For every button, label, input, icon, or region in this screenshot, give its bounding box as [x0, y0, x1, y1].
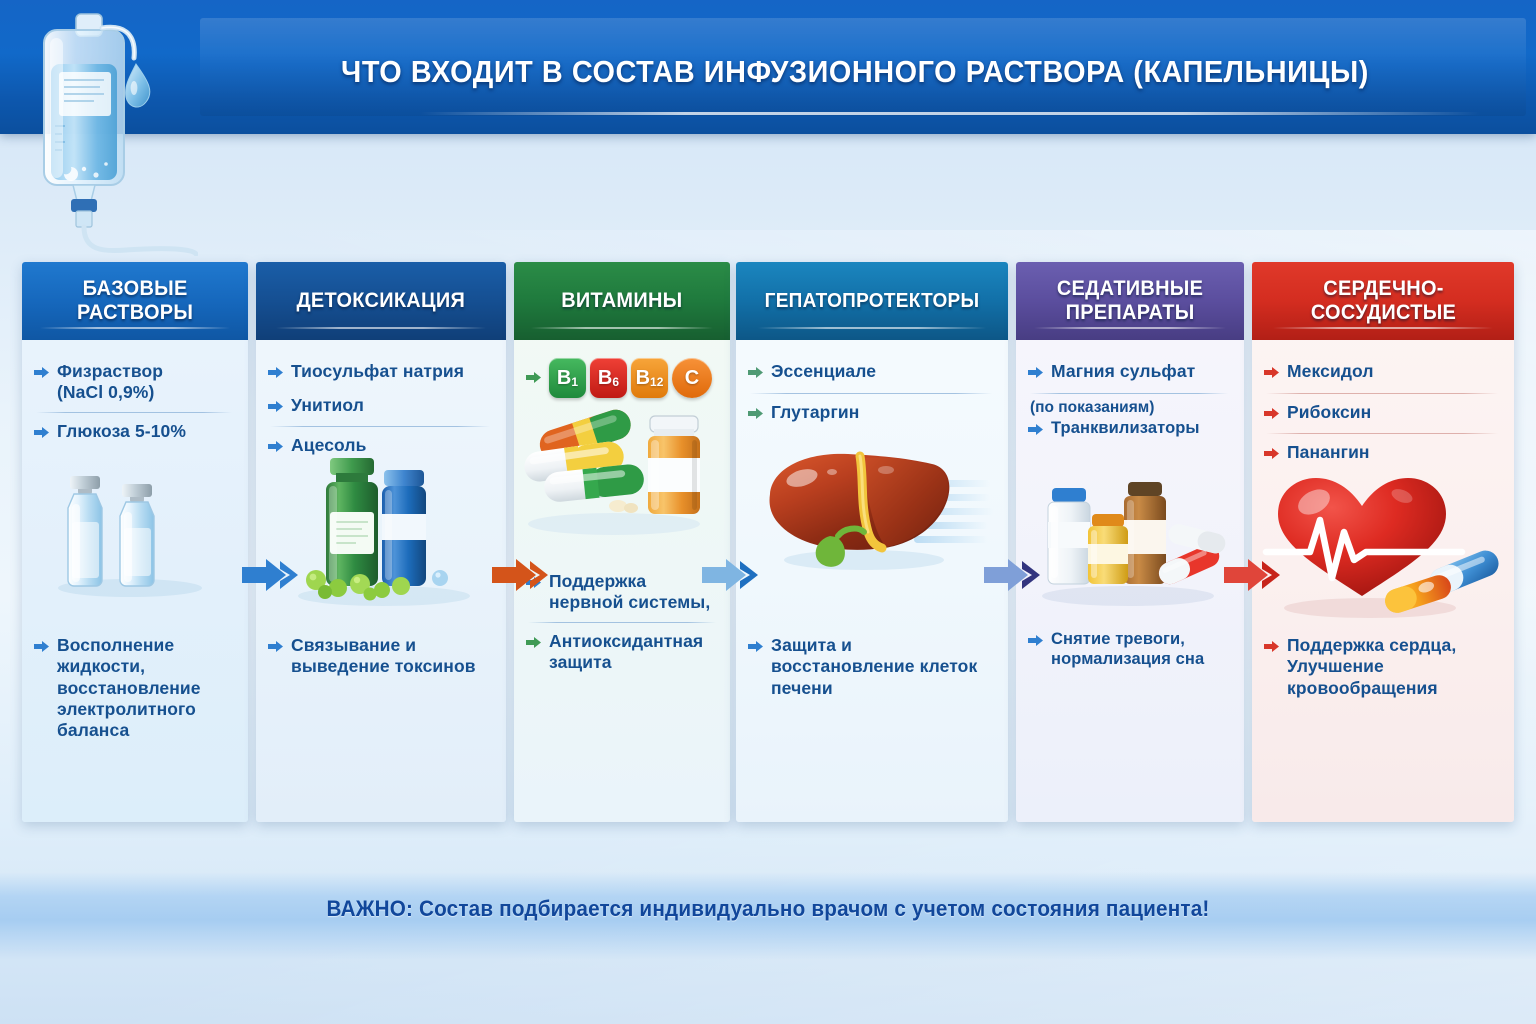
column-benefit-hepatoprotectors: Защита и восстановление клеток печени: [748, 630, 996, 704]
column-base-solutions[interactable]: БАЗОВЫЕ РАСТВОРЫ Физраствор (NaCl 0,9%): [22, 262, 248, 822]
bullet-arrow-icon: [268, 399, 284, 419]
benefit-item: Поддержка сердца, Улучшение кровообращен…: [1264, 630, 1502, 704]
column-benefit-sedatives: Снятие тревоги, нормализация сна: [1028, 624, 1232, 674]
column-header-hepatoprotectors: ГЕПАТОПРОТЕКТОРЫ: [736, 262, 1008, 340]
bullet-arrow-icon: [1264, 639, 1280, 659]
bullet-arrow-icon: [526, 370, 542, 390]
list-item[interactable]: Эссенциале: [748, 356, 994, 390]
benefit-item: Восполнение жидкости, восстановление эле…: [34, 630, 236, 747]
bullet-arrow-icon: [34, 425, 50, 445]
category-columns: БАЗОВЫЕ РАСТВОРЫ Физраствор (NaCl 0,9%): [0, 262, 1536, 827]
page-title: ЧТО ВХОДИТ В СОСТАВ ИНФУЗИОННОГО РАСТВОР…: [251, 54, 1460, 90]
column-vitamins[interactable]: ВИТАМИНЫ B1 B6: [514, 262, 730, 822]
bullet-arrow-icon: [1028, 633, 1044, 653]
bullet-arrow-icon: [34, 639, 50, 659]
list-item[interactable]: Транквилизаторы: [1028, 417, 1230, 447]
list-item[interactable]: Глутаргин: [748, 397, 994, 431]
header-underline: [420, 112, 1480, 115]
column-title: ДЕТОКСИКАЦИЯ: [297, 289, 466, 313]
capsules-and-pill-bottle-icon: [514, 396, 730, 556]
column-benefit-base-solutions: Восполнение жидкости, восстановление эле…: [34, 630, 236, 747]
column-header-detoxification: ДЕТОКСИКАЦИЯ: [256, 262, 506, 340]
column-body-hepatoprotectors: Эссенциале Глутаргин: [736, 340, 1008, 822]
bullet-arrow-icon: [268, 639, 284, 659]
header-band: ЧТО ВХОДИТ В СОСТАВ ИНФУЗИОННОГО РАСТВОР…: [0, 0, 1536, 134]
benefit-text: Снятие тревоги, нормализация сна: [1051, 629, 1232, 669]
divider: [1030, 393, 1228, 394]
list-item[interactable]: Физраствор (NaCl 0,9%): [34, 356, 234, 409]
column-title-line1: СЕРДЕЧНО-: [1323, 277, 1443, 300]
item-label: Тиосульфат натрия: [291, 361, 464, 382]
column-cardiovascular[interactable]: СЕРДЕЧНО- СОСУДИСТЫЕ Мексидол Ри: [1252, 262, 1514, 822]
list-item[interactable]: Унитиол: [268, 390, 492, 424]
infographic-poster: ЧТО ВХОДИТ В СОСТАВ ИНФУЗИОННОГО РАСТВОР…: [0, 0, 1536, 1024]
bullet-arrow-icon: [1028, 422, 1044, 442]
column-title-line2: СОСУДИСТЫЕ: [1310, 301, 1455, 324]
divider: [528, 622, 716, 623]
item-sublabel: (NaCl 0,9%): [57, 382, 154, 402]
bullet-arrow-icon: [748, 639, 764, 659]
divider: [750, 393, 992, 394]
column-title-line1: СЕДАТИВНЫЕ: [1057, 277, 1203, 300]
item-label: Транквилизаторы: [1051, 418, 1200, 438]
item-label: Магния сульфат: [1051, 361, 1195, 382]
bullet-arrow-icon: [526, 635, 542, 655]
list-item[interactable]: Рибоксин: [1264, 397, 1500, 431]
divider: [36, 412, 232, 413]
footer-note: ВАЖНО: Состав подбирается индивидуально …: [46, 896, 1490, 922]
arrow-vitamins-to-hepato: [700, 555, 772, 600]
item-label: Панангин: [1287, 442, 1370, 463]
benefit-item: Снятие тревоги, нормализация сна: [1028, 624, 1232, 674]
list-item[interactable]: Магния сульфат: [1028, 356, 1230, 390]
item-label: Глутаргин: [771, 402, 859, 423]
column-title: ВИТАМИНЫ: [561, 289, 682, 313]
arrow-hepato-to-sedatives: [982, 555, 1054, 600]
column-header-cardiovascular: СЕРДЕЧНО- СОСУДИСТЫЕ: [1252, 262, 1514, 340]
benefit-text: Поддержка нервной системы,: [549, 571, 718, 614]
liver-organ-icon: [736, 432, 1008, 592]
vitamin-badge-b6: B6: [590, 358, 627, 398]
column-title-line2: РАСТВОРЫ: [77, 301, 193, 324]
arrow-sedatives-to-cardio: [1222, 555, 1294, 600]
column-title-line1: БАЗОВЫЕ: [82, 277, 187, 300]
item-label: Рибоксин: [1287, 402, 1371, 423]
heart-with-pulse-icon: [1252, 466, 1514, 626]
column-detoxification[interactable]: ДЕТОКСИКАЦИЯ Тиосульфат натрия Унитиол: [256, 262, 506, 822]
bullet-arrow-icon: [34, 365, 50, 385]
benefit-item: Связывание и выведение токсинов: [268, 630, 494, 683]
benefit-text: Поддержка сердца, Улучшение кровообращен…: [1287, 635, 1502, 699]
bullet-arrow-icon: [1028, 365, 1044, 385]
column-benefit-cardiovascular: Поддержка сердца, Улучшение кровообращен…: [1264, 630, 1502, 704]
benefit-item: Защита и восстановление клеток печени: [748, 630, 996, 704]
bullet-arrow-icon: [1264, 446, 1280, 466]
two-glass-vials-icon: [22, 448, 248, 598]
vitamin-badge-b1: B1: [549, 358, 586, 398]
column-body-base-solutions: Физраствор (NaCl 0,9%) Глюкоза 5-10%: [22, 340, 248, 822]
column-header-base-solutions: БАЗОВЫЕ РАСТВОРЫ: [22, 262, 248, 340]
column-sedatives[interactable]: СЕДАТИВНЫЕ ПРЕПАРАТЫ Магния сульфат (по …: [1016, 262, 1244, 822]
column-benefit-detoxification: Связывание и выведение токсинов: [268, 630, 494, 683]
benefit-text: Антиоксидантная защита: [549, 631, 718, 674]
column-header-sedatives: СЕДАТИВНЫЕ ПРЕПАРАТЫ: [1016, 262, 1244, 340]
benefit-text: Защита и восстановление клеток печени: [771, 635, 996, 699]
list-item[interactable]: Мексидол: [1264, 356, 1500, 390]
arrow-base-to-detox: [240, 555, 312, 600]
column-title-line2: ПРЕПАРАТЫ: [1066, 301, 1195, 324]
bullet-arrow-icon: [268, 365, 284, 385]
sedatives-note: (по показаниям): [1028, 397, 1230, 417]
column-hepatoprotectors[interactable]: ГЕПАТОПРОТЕКТОРЫ Эссенциале Глутаргин: [736, 262, 1008, 822]
benefit-item: Антиоксидантная защита: [526, 626, 718, 679]
bullet-arrow-icon: [1264, 406, 1280, 426]
item-label: Физраствор: [57, 361, 163, 381]
list-item[interactable]: Тиосульфат натрия: [268, 356, 492, 390]
vitamin-badge-c: C: [672, 358, 712, 398]
vitamin-badge-b12: B12: [631, 358, 668, 398]
column-title: ГЕПАТОПРОТЕКТОРЫ: [765, 290, 980, 312]
item-label: Мексидол: [1287, 361, 1374, 382]
divider: [1266, 393, 1498, 394]
item-label: Эссенциале: [771, 361, 876, 382]
benefit-text: Связывание и выведение токсинов: [291, 635, 494, 678]
benefit-text: Восполнение жидкости, восстановление эле…: [57, 635, 236, 742]
list-item[interactable]: Глюкоза 5-10%: [34, 416, 234, 450]
divider: [1266, 433, 1498, 434]
item-label: Унитиол: [291, 395, 364, 416]
bullet-arrow-icon: [1264, 365, 1280, 385]
column-header-vitamins: ВИТАМИНЫ: [514, 262, 730, 340]
divider: [270, 426, 490, 427]
bullet-arrow-icon: [748, 406, 764, 426]
item-label: Глюкоза 5-10%: [57, 421, 186, 442]
arrow-detox-to-vitamins: [490, 555, 562, 600]
bullet-arrow-icon: [748, 365, 764, 385]
iv-drip-bag-icon: [18, 6, 198, 256]
